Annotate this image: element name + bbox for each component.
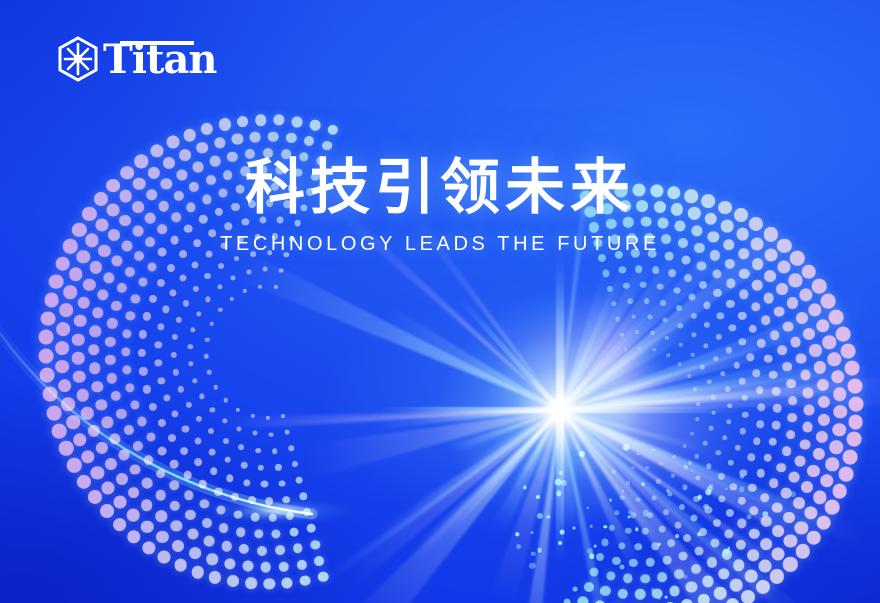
hero-subtitle: TECHNOLOGY LEADS THE FUTURE <box>0 234 880 254</box>
burst-spike-vertical <box>556 260 564 560</box>
banner-canvas: Titan 科技引领未来 TECHNOLOGY LEADS THE FUTURE <box>0 0 880 603</box>
hexagon-star-icon <box>57 36 99 82</box>
brand-logo[interactable]: Titan <box>57 36 216 82</box>
arc-hotspot <box>203 498 353 524</box>
hero-title: 科技引领未来 <box>0 158 880 218</box>
brand-wordmark: Titan <box>103 38 216 80</box>
wordmark-overbar <box>120 41 194 45</box>
